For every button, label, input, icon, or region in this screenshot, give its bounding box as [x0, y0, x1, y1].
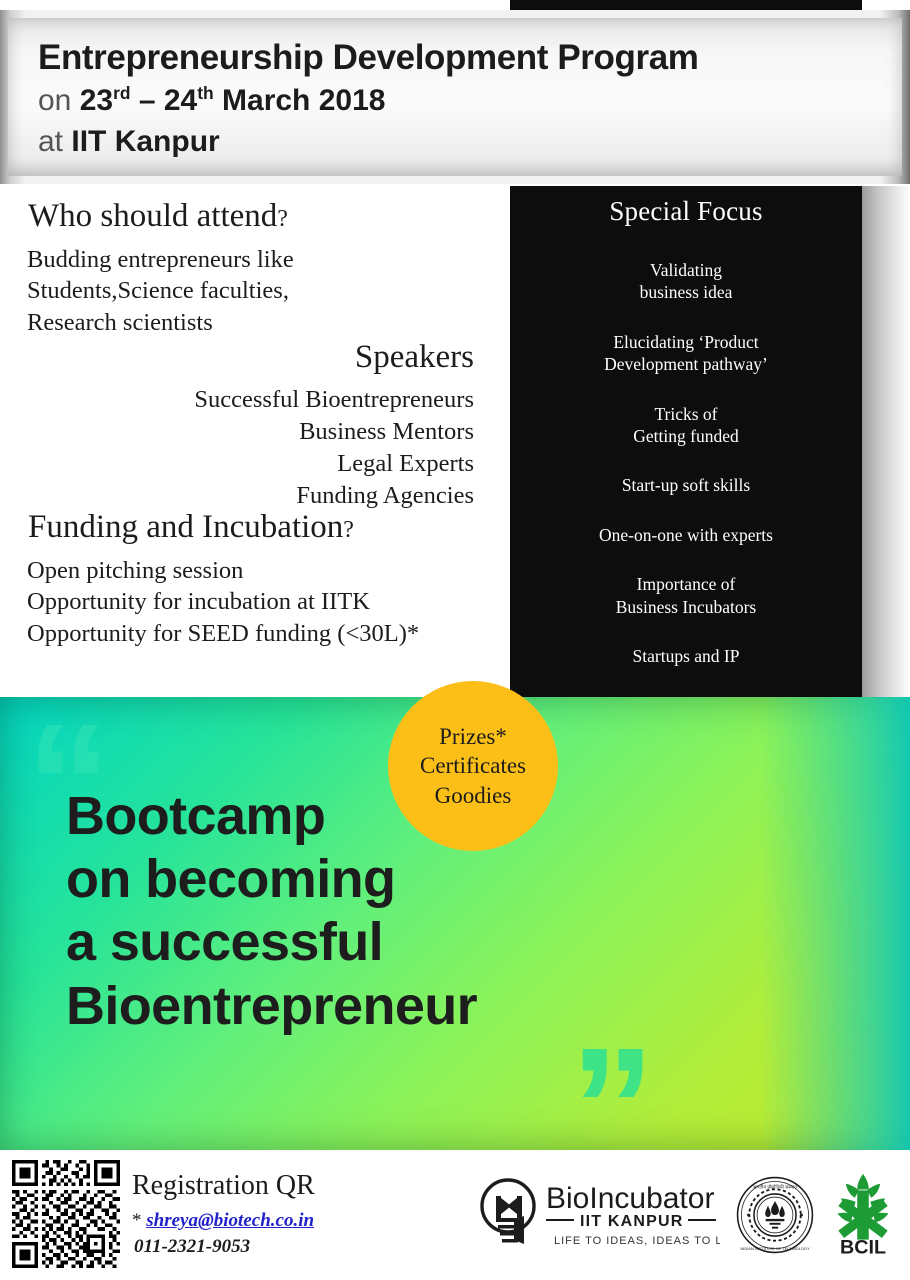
bcil-wordmark: BCIL: [840, 1237, 886, 1258]
date-prefix: on: [38, 84, 71, 117]
venue-name: IIT Kanpur: [71, 125, 219, 158]
band-teal-overlay: [760, 697, 910, 1150]
quote-close-icon: ”: [570, 1047, 655, 1150]
focus-item: Importance ofBusiness Incubators: [510, 573, 862, 618]
event-venue-line: at IIT Kanpur: [38, 127, 882, 157]
poster-root: Entrepreneurship Development Program on …: [0, 0, 910, 1280]
funding-incubation-heading: Funding and Incubation?: [28, 511, 354, 544]
list-item: Business Mentors: [194, 416, 474, 448]
funding-incubation-list: Open pitching session Opportunity for in…: [27, 555, 419, 649]
prizes-badge: Prizes* Certificates Goodies: [388, 681, 558, 851]
date-day1: 23: [80, 84, 113, 117]
speakers-list: Successful Bioentrepreneurs Business Men…: [194, 384, 474, 511]
date-day2-ordinal: th: [197, 83, 213, 103]
special-focus-list: Validatingbusiness idea Elucidating ‘Pro…: [510, 259, 862, 739]
iitk-seal-text-bottom: INDIAN INSTITUTE OF TECHNOLOGY: [740, 1246, 810, 1251]
focus-item: Validatingbusiness idea: [510, 259, 862, 304]
who-heading-text: Who should attend: [28, 198, 277, 234]
date-day2: 24: [164, 84, 197, 117]
who-heading-question-mark: ?: [277, 206, 288, 232]
left-content-column: Who should attend? Budding entrepreneurs…: [0, 186, 510, 697]
bcil-wheat-icon: [838, 1174, 889, 1240]
headline-line: Bootcamp: [66, 785, 686, 848]
focus-item: Tricks ofGetting funded: [510, 403, 862, 448]
bioincubator-logo: BioIncubator IIT KANPUR LIFE TO IDEAS, I…: [470, 1172, 720, 1258]
who-should-attend-list: Budding entrepreneurs like Students,Scie…: [27, 244, 294, 338]
contact-email-line: * shreya@biotech.co.in: [132, 1210, 314, 1232]
list-item: Open pitching session: [27, 555, 419, 586]
header-plaque: Entrepreneurship Development Program on …: [8, 18, 902, 176]
page-title: Entrepreneurship Development Program: [38, 40, 882, 75]
event-date-line: on 23rd – 24th March 2018: [38, 86, 882, 116]
focus-item: Startups and IP: [510, 645, 862, 667]
headline-line: Bioentrepreneur: [66, 975, 686, 1038]
special-focus-title: Special Focus: [510, 196, 862, 227]
list-item: Opportunity for SEED funding (<30L)*: [27, 618, 419, 649]
who-should-attend-heading: Who should attend?: [28, 200, 288, 233]
speakers-heading: Speakers: [355, 341, 474, 374]
header-text-block: Entrepreneurship Development Program on …: [38, 40, 882, 157]
iit-kanpur-seal-logo: भारतीय प्रौद्योगिकी संस्थान INDIAN INSTI…: [736, 1176, 814, 1254]
registration-qr-label: Registration QR: [132, 1170, 315, 1202]
date-separator: –: [139, 84, 156, 117]
list-item: Students,Science faculties,: [27, 275, 294, 306]
venue-prefix: at: [38, 125, 63, 158]
email-asterisk: *: [132, 1210, 146, 1231]
lightbulb-icon: [482, 1180, 534, 1244]
headline-line: on becoming: [66, 848, 686, 911]
list-item: Successful Bioentrepreneurs: [194, 384, 474, 416]
list-item: Research scientists: [27, 307, 294, 338]
date-month-year: March 2018: [222, 84, 385, 117]
contact-phone: 011-2321-9053: [134, 1236, 250, 1258]
bcil-logo: BCIL: [826, 1172, 900, 1258]
bioincubator-subtitle: IIT KANPUR: [580, 1213, 684, 1230]
bioincubator-tagline: LIFE TO IDEAS, IDEAS TO LIFE: [554, 1235, 720, 1247]
list-item: Funding Agencies: [194, 480, 474, 512]
date-day1-ordinal: rd: [113, 83, 130, 103]
prizes-badge-line: Prizes*: [439, 722, 507, 751]
list-item: Budding entrepreneurs like: [27, 244, 294, 275]
funding-heading-question-mark: ?: [343, 517, 354, 543]
list-item: Legal Experts: [194, 448, 474, 480]
prizes-badge-line: Certificates: [420, 751, 526, 780]
bootcamp-headline: Bootcamp on becoming a successful Bioent…: [66, 785, 686, 1038]
list-item: Opportunity for incubation at IITK: [27, 586, 419, 617]
bioincubator-wordmark: BioIncubator: [546, 1182, 714, 1215]
headline-line: a successful: [66, 911, 686, 974]
prizes-badge-line: Goodies: [435, 781, 512, 810]
funding-heading-text: Funding and Incubation: [28, 509, 343, 545]
registration-qr-code[interactable]: [12, 1160, 120, 1268]
contact-email-link[interactable]: shreya@biotech.co.in: [146, 1210, 314, 1231]
focus-item: One-on-one with experts: [510, 524, 862, 546]
focus-item: Elucidating ‘ProductDevelopment pathway’: [510, 331, 862, 376]
focus-item: Start-up soft skills: [510, 474, 862, 496]
iitk-seal-text-top: भारतीय प्रौद्योगिकी संस्थान: [753, 1183, 797, 1189]
footer: Registration QR * shreya@biotech.co.in 0…: [0, 1150, 910, 1280]
